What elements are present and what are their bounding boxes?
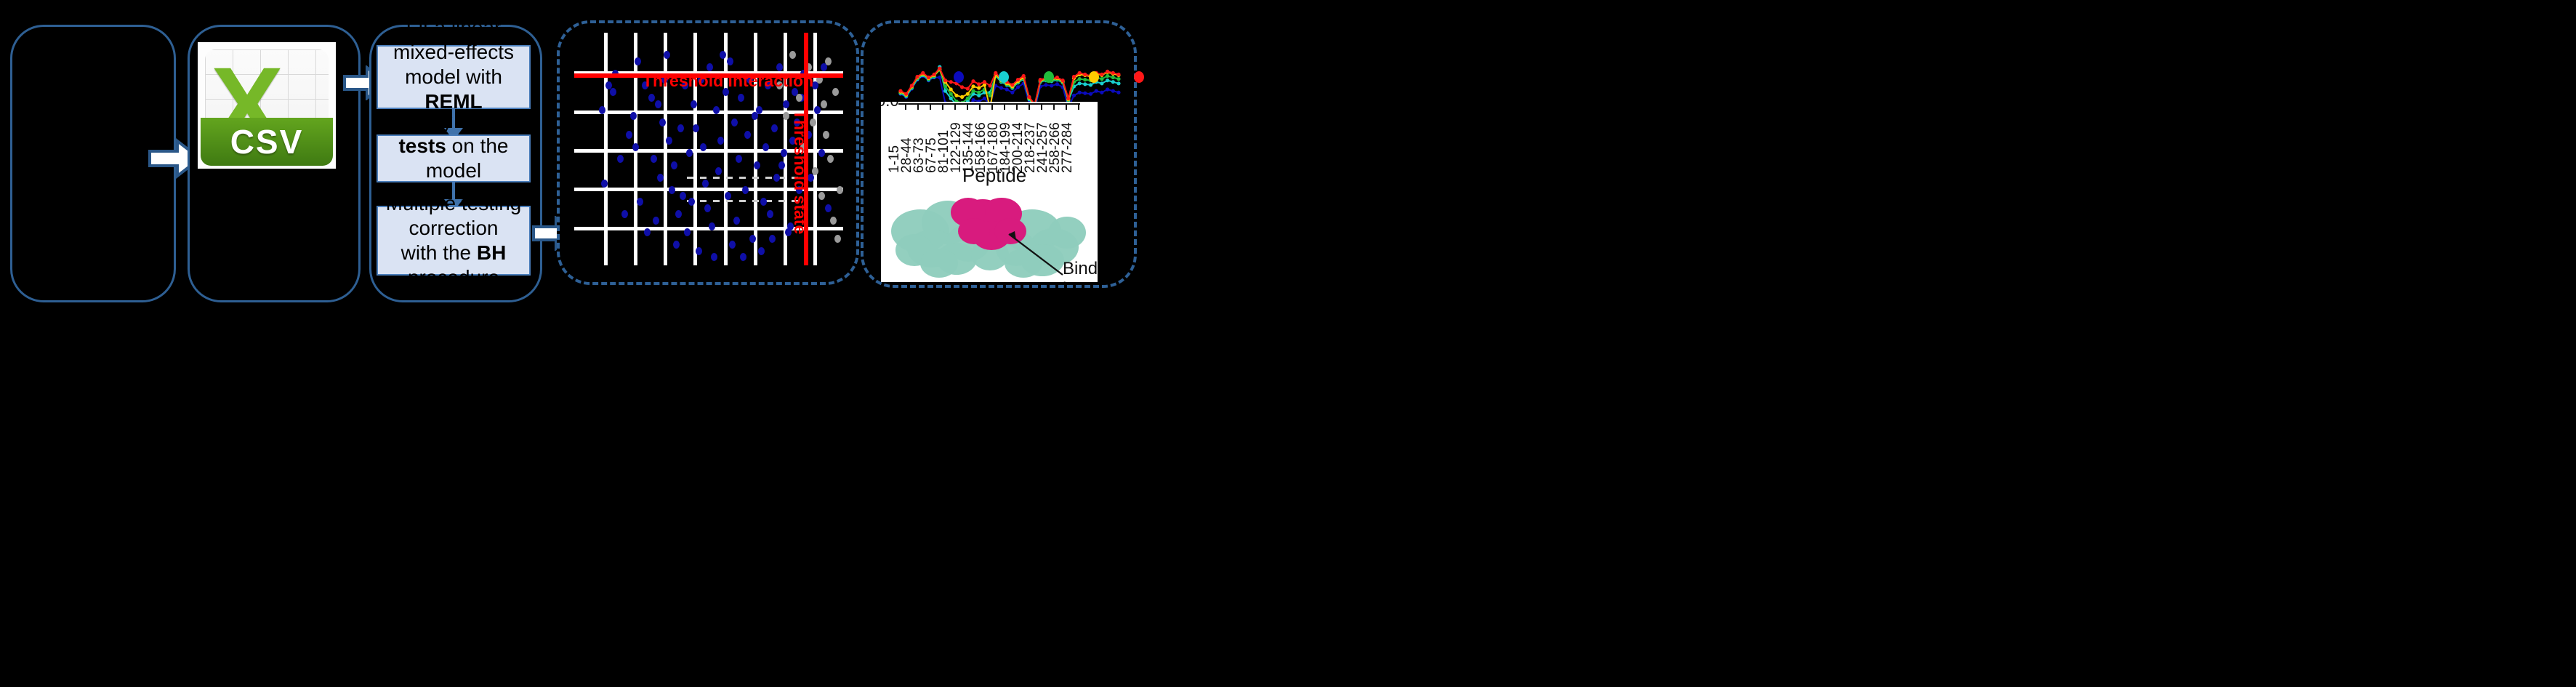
scatter-point-significant xyxy=(653,217,659,225)
protein-surface-blob xyxy=(1005,249,1042,278)
uptake-marker xyxy=(983,97,986,100)
scatter-point-significant xyxy=(731,118,738,126)
peptide-tick-mark xyxy=(1029,103,1030,110)
uptake-marker xyxy=(1066,97,1070,100)
uptake-marker xyxy=(943,84,947,88)
scatter-point-significant xyxy=(778,161,785,169)
uptake-marker xyxy=(966,87,970,90)
scatter-point-significant xyxy=(617,155,624,163)
scatter-point-significant xyxy=(686,149,693,157)
scatter-point-significant xyxy=(702,180,709,188)
legend-dot-series-red[interactable] xyxy=(1134,71,1144,83)
scatter-point-significant xyxy=(707,63,713,71)
csv-format-band: CSV xyxy=(201,118,333,166)
uptake-marker xyxy=(1111,80,1115,84)
protein-surface-blob xyxy=(920,249,958,278)
scatter-point-significant xyxy=(733,217,740,225)
uptake-marker xyxy=(960,85,964,89)
scatter-point-significant xyxy=(752,112,758,120)
peptide-tick-mark xyxy=(930,103,931,110)
scatter-point-significant xyxy=(760,198,767,206)
scatter-point-significant xyxy=(601,180,608,188)
legend-dot-series-green[interactable] xyxy=(1044,71,1054,83)
legend-dot-series-yellow[interactable] xyxy=(1089,71,1099,83)
peptide-tick-mark xyxy=(917,103,919,110)
scatter-point-nonsignificant xyxy=(834,235,841,243)
scatter-point-significant xyxy=(691,100,697,108)
scatter-point-significant xyxy=(725,192,731,200)
uptake-marker xyxy=(1116,91,1120,95)
scatter-point-nonsignificant xyxy=(830,217,837,225)
uptake-marker xyxy=(943,89,947,93)
uptake-marker xyxy=(1116,77,1120,81)
scatter-point-significant xyxy=(675,210,682,218)
uptake-marker xyxy=(904,92,908,96)
scatter-point-significant xyxy=(610,88,616,96)
scatter-point-significant xyxy=(621,210,628,218)
scatter-point-significant xyxy=(669,186,675,194)
uptake-marker xyxy=(971,79,975,83)
peptide-tick-mark xyxy=(1053,103,1055,110)
uptake-marker xyxy=(949,87,953,91)
uptake-marker xyxy=(1100,77,1103,81)
scatter-point-significant xyxy=(814,106,821,114)
structure-inset-card: 0.01-1528-4463-7367-7581-101122-129135-1… xyxy=(881,102,1098,282)
scatter-point-nonsignificant xyxy=(837,186,843,194)
uptake-marker xyxy=(977,82,981,86)
scatter-point-significant xyxy=(742,186,749,194)
scatter-point-nonsignificant xyxy=(827,155,834,163)
uptake-marker xyxy=(1083,73,1087,76)
scatter-point-significant xyxy=(644,228,651,236)
uptake-marker xyxy=(1083,92,1087,95)
uptake-marker xyxy=(983,80,986,84)
scatter-point-significant xyxy=(825,204,832,212)
uptake-marker xyxy=(960,95,964,99)
process-step-bh: Multiple testing correction with the BH … xyxy=(377,206,531,276)
scatter-point-significant xyxy=(693,124,699,132)
threshold-interaction-label: Threshold interaction xyxy=(643,71,813,91)
uptake-marker xyxy=(916,75,919,79)
uptake-marker xyxy=(1044,83,1047,87)
uptake-marker xyxy=(1111,76,1115,79)
scatter-point-nonsignificant xyxy=(810,118,816,126)
process-step-reml: Fit a linear mixed-effects model with RE… xyxy=(377,45,531,109)
uptake-marker xyxy=(954,94,958,97)
peptide-tick-mark xyxy=(1066,103,1067,110)
uptake-marker xyxy=(1106,87,1109,91)
scatter-point-significant xyxy=(673,241,680,249)
uptake-marker xyxy=(1027,95,1031,99)
csv-format-label: CSV xyxy=(230,122,304,161)
uptake-marker xyxy=(1095,89,1098,93)
uptake-marker xyxy=(910,84,914,87)
peptide-tick-mark xyxy=(967,103,968,110)
legend-dot-series-cyan[interactable] xyxy=(999,71,1009,83)
uptake-marker xyxy=(1061,79,1065,82)
scatter-point-significant xyxy=(700,143,707,151)
uptake-marker xyxy=(921,71,925,75)
uptake-marker xyxy=(977,91,981,95)
scatter-point-significant xyxy=(651,155,657,163)
y-axis-tick-label: 0.0 xyxy=(881,102,899,111)
volcano-scatter-plot: Threshold state xyxy=(574,33,843,265)
uptake-marker xyxy=(1078,77,1082,81)
scatter-point-significant xyxy=(754,161,760,169)
scatter-point-significant xyxy=(744,131,751,139)
scatter-point-significant xyxy=(704,204,711,212)
peptide-tick-mark xyxy=(942,103,943,110)
process-step-bh-text: Multiple testing correction with the BH … xyxy=(385,191,522,291)
uptake-marker xyxy=(938,67,941,71)
uptake-marker xyxy=(933,73,936,76)
scatter-point-nonsignificant xyxy=(832,88,839,96)
scatter-point-significant xyxy=(727,57,733,65)
scatter-point-nonsignificant xyxy=(783,112,789,120)
scatter-point-significant xyxy=(655,100,661,108)
uptake-marker xyxy=(949,92,953,96)
uptake-marker xyxy=(971,89,975,93)
uptake-marker xyxy=(927,76,930,79)
protein-surface-blob xyxy=(1048,217,1086,249)
uptake-marker xyxy=(938,76,941,79)
scatter-point-nonsignificant xyxy=(823,131,829,139)
uptake-marker xyxy=(1078,71,1082,75)
scatter-point-significant xyxy=(664,51,670,59)
uptake-marker xyxy=(1089,92,1092,96)
scatter-point-nonsignificant xyxy=(789,51,796,59)
uptake-marker xyxy=(1072,94,1076,97)
uptake-marker xyxy=(989,84,992,87)
scatter-point-significant xyxy=(599,106,605,114)
legend-dot-series-blue[interactable] xyxy=(954,71,964,83)
scatter-point-significant xyxy=(648,94,655,102)
scatter-point-nonsignificant xyxy=(812,167,818,175)
uptake-marker xyxy=(1072,75,1076,79)
scatter-point-significant xyxy=(736,155,742,163)
scatter-point-significant xyxy=(637,198,643,206)
scatter-point-significant xyxy=(762,143,769,151)
uptake-marker xyxy=(966,97,970,100)
scatter-point-significant xyxy=(729,241,736,249)
process-step-wald: Apply Wald tests on the model parameters xyxy=(377,134,531,182)
scatter-point-significant xyxy=(666,137,672,145)
threshold-state-label: Threshold state xyxy=(790,110,810,234)
scatter-point-significant xyxy=(711,253,717,261)
scatter-point-significant xyxy=(783,100,789,108)
csv-file-icon[interactable]: X CSV xyxy=(198,42,336,169)
uptake-marker xyxy=(1106,74,1109,78)
scatter-point-significant xyxy=(635,57,641,65)
scatter-point-significant xyxy=(684,228,691,236)
peptide-tick-mark xyxy=(1004,103,1005,110)
scatter-point-significant xyxy=(680,192,686,200)
uptake-marker xyxy=(1111,89,1115,93)
peptide-tick-mark xyxy=(1016,103,1018,110)
scatter-point-significant xyxy=(659,118,666,126)
scatter-point-significant xyxy=(818,149,825,157)
scatter-point-significant xyxy=(657,174,664,182)
scatter-point-significant xyxy=(749,235,756,243)
uptake-marker xyxy=(1039,78,1042,81)
scatter-dashed-guide xyxy=(687,200,800,202)
uptake-marker xyxy=(999,86,1003,89)
uptake-marker xyxy=(1055,76,1059,79)
uptake-marker xyxy=(977,86,981,89)
scatter-point-nonsignificant xyxy=(821,100,827,108)
scatter-point-significant xyxy=(776,63,783,71)
uptake-marker xyxy=(1050,84,1053,87)
scatter-point-significant xyxy=(773,174,780,182)
scatter-point-nonsignificant xyxy=(825,57,832,65)
uptake-marker xyxy=(898,89,902,93)
scatter-point-significant xyxy=(767,210,773,218)
uptake-marker xyxy=(1010,91,1014,95)
x-axis-title: Peptide xyxy=(962,164,1026,187)
peptide-tick-mark xyxy=(1041,103,1042,110)
peptide-tick-mark xyxy=(991,103,993,110)
uptake-marker xyxy=(1010,83,1014,87)
uptake-marker xyxy=(994,71,997,75)
binding-interface-annotation: Binding interface xyxy=(1063,259,1098,282)
uptake-marker xyxy=(1078,81,1082,85)
scatter-point-significant xyxy=(771,124,778,132)
uptake-marker xyxy=(966,92,970,96)
uptake-marker xyxy=(1083,78,1087,81)
uptake-marker xyxy=(1100,91,1103,95)
uptake-marker xyxy=(1100,73,1103,76)
peptide-tick-mark xyxy=(954,103,956,110)
scatter-point-nonsignificant xyxy=(818,192,825,200)
uptake-marker xyxy=(1116,81,1120,85)
scatter-point-significant xyxy=(626,131,632,139)
uptake-marker xyxy=(1022,74,1026,78)
ligand-surface-blob xyxy=(958,218,990,244)
ligand-surface-blob xyxy=(994,218,1026,244)
peptide-tick-mark xyxy=(1078,103,1079,110)
uptake-marker xyxy=(1078,91,1082,95)
uptake-marker xyxy=(1106,70,1109,73)
uptake-marker xyxy=(1016,78,1020,81)
uptake-marker xyxy=(1083,82,1087,86)
scatter-point-significant xyxy=(632,143,639,151)
uptake-marker xyxy=(1106,79,1109,82)
uptake-marker xyxy=(971,84,975,88)
scatter-point-significant xyxy=(781,149,787,157)
peptide-tick-mark xyxy=(979,103,981,110)
uptake-marker xyxy=(1055,82,1059,86)
uptake-marker xyxy=(949,80,953,84)
uptake-marker xyxy=(1116,73,1120,76)
scatter-point-significant xyxy=(677,124,684,132)
scatter-point-significant xyxy=(769,235,776,243)
uptake-marker xyxy=(1005,87,1009,91)
scatter-point-significant xyxy=(740,253,746,261)
uptake-marker xyxy=(1111,71,1115,75)
uptake-marker xyxy=(1016,85,1020,89)
scatter-point-significant xyxy=(738,94,744,102)
scatter-point-significant xyxy=(709,222,715,230)
scatter-dashed-guide xyxy=(687,177,800,179)
scatter-point-significant xyxy=(758,247,765,255)
uptake-marker xyxy=(943,79,947,82)
peptide-tick-label: 277-284 xyxy=(1060,122,1076,173)
peptide-tick-mark xyxy=(905,103,906,110)
uptake-marker xyxy=(949,97,953,100)
scatter-point-significant xyxy=(671,161,677,169)
uptake-marker xyxy=(1100,81,1103,85)
scatter-point-significant xyxy=(715,167,722,175)
scatter-point-significant xyxy=(696,247,702,255)
uptake-marker xyxy=(1089,83,1092,87)
